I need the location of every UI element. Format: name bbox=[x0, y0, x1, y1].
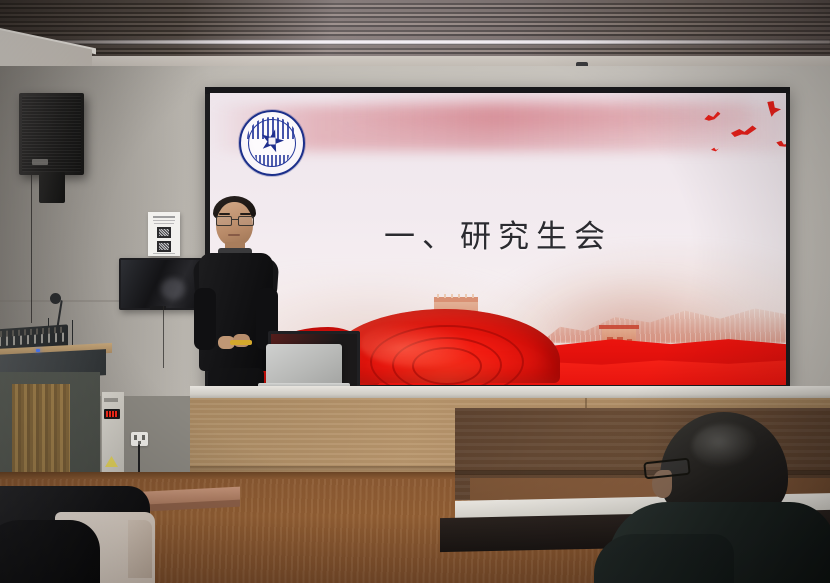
notice-text-line bbox=[154, 223, 174, 224]
qr-notice-poster bbox=[148, 212, 180, 256]
power-led-indicator bbox=[36, 349, 40, 352]
laptop bbox=[266, 344, 342, 386]
cabinet-label bbox=[104, 398, 118, 402]
monitor-cable bbox=[163, 306, 164, 368]
microphone-head-icon bbox=[50, 293, 61, 304]
slide-red-wash-2 bbox=[330, 97, 750, 131]
qr-code-icon bbox=[157, 227, 171, 238]
speaker-mount bbox=[39, 172, 65, 203]
seal-bottom-text-arc bbox=[255, 155, 289, 167]
outlet-slot bbox=[142, 435, 145, 440]
presenter-arm-left bbox=[194, 288, 216, 350]
ceiling-light-line bbox=[0, 40, 830, 44]
speaker-cable bbox=[31, 175, 32, 323]
qr-pattern bbox=[159, 229, 169, 236]
presentation-room-photo: 一、研究生会 bbox=[0, 0, 830, 583]
audience-shoulder bbox=[594, 534, 734, 583]
glasses-lens-right bbox=[238, 216, 254, 226]
presenter-brow bbox=[219, 213, 230, 215]
antenna bbox=[72, 320, 73, 348]
speaker-grill bbox=[22, 96, 81, 172]
slide-title: 一、研究生会 bbox=[210, 211, 786, 256]
foreground-chair-back bbox=[0, 520, 100, 583]
university-seal-icon bbox=[239, 110, 305, 176]
notice-text-line bbox=[153, 220, 175, 221]
speaker-logo bbox=[32, 159, 48, 165]
audience-hair-highlight bbox=[692, 424, 758, 468]
notice-title-line bbox=[153, 216, 175, 218]
tower-merlon bbox=[444, 294, 446, 298]
glasses-lens-left bbox=[216, 216, 232, 226]
monitor-glare bbox=[161, 278, 185, 300]
tower-merlon bbox=[437, 294, 439, 298]
outlet-slot bbox=[134, 435, 137, 440]
qr-code-icon bbox=[157, 241, 171, 252]
wall-speaker bbox=[19, 93, 84, 175]
tower-merlon bbox=[458, 294, 460, 298]
glasses-bridge bbox=[231, 219, 238, 220]
foreground-cloth-fold bbox=[128, 520, 152, 578]
cabinet-led-digits bbox=[106, 411, 118, 417]
presenter-held-item bbox=[230, 340, 252, 345]
presenter-brow bbox=[240, 213, 251, 215]
tower-merlon bbox=[451, 294, 453, 298]
presenter-mouth bbox=[228, 234, 240, 236]
glasses-icon bbox=[216, 216, 253, 224]
tower-merlon bbox=[465, 294, 467, 298]
silk-highlight bbox=[360, 321, 480, 367]
seal-emblem-center bbox=[269, 137, 276, 144]
qr-pattern bbox=[159, 243, 169, 250]
notice-text-line bbox=[153, 253, 175, 254]
monitor-reflection bbox=[121, 260, 200, 308]
tower-merlon bbox=[472, 294, 474, 298]
audience-member bbox=[600, 406, 830, 583]
